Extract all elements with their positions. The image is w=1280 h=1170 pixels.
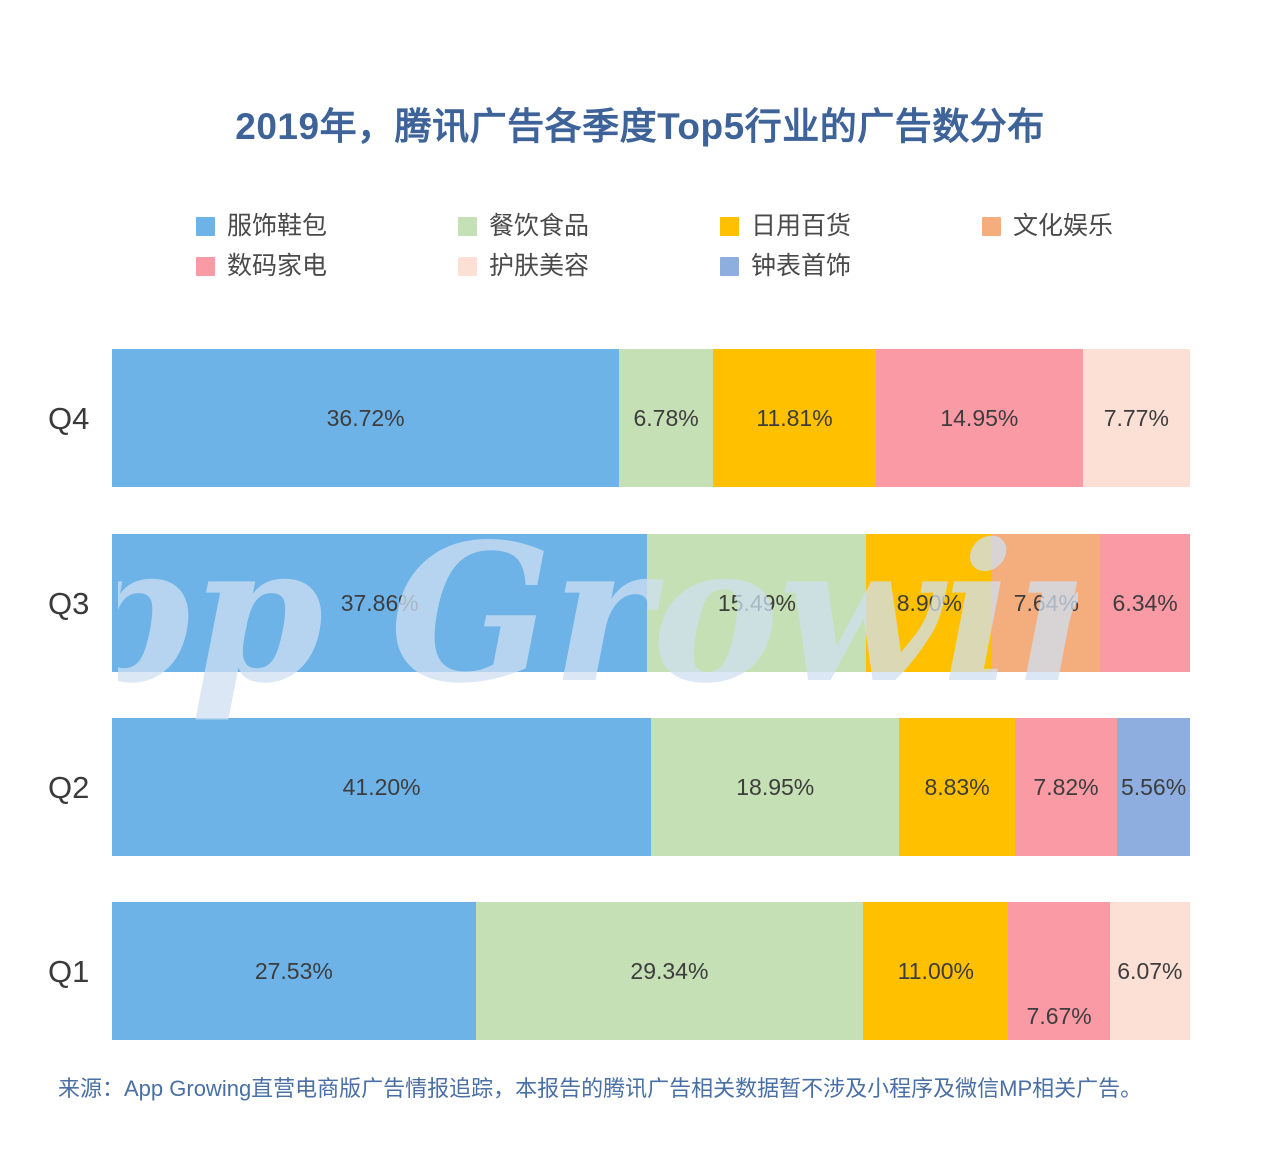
bar-segment-餐饮食品[interactable]: 18.95% (651, 718, 899, 856)
legend-item-文化娱乐[interactable]: 文化娱乐 (982, 214, 1244, 239)
legend-item-餐饮食品[interactable]: 餐饮食品 (458, 214, 720, 239)
legend-item-label: 文化娱乐 (1013, 214, 1113, 239)
source-note: 来源：App Growing直营电商版广告情报追踪，本报告的腾讯广告相关数据暂不… (58, 1070, 1228, 1109)
bar-segment-护肤美容[interactable]: 6.07% (1110, 902, 1190, 1040)
bar-segment-value: 5.56% (1121, 776, 1186, 799)
legend-item-护肤美容[interactable]: 护肤美容 (458, 254, 720, 279)
legend-swatch-icon (720, 257, 739, 276)
bar-segment-服饰鞋包[interactable]: 37.86% (112, 534, 647, 672)
category-label-Q4: Q4 (48, 403, 104, 434)
bar-segment-value: 15.49% (718, 592, 796, 615)
legend-item-label: 餐饮食品 (489, 214, 589, 239)
page-title: 2019年，腾讯广告各季度Top5行业的广告数分布 (0, 96, 1280, 150)
bar-track: 41.20%18.95%8.83%7.82%5.56% (112, 718, 1190, 856)
bar-segment-value: 11.00% (898, 960, 974, 983)
bar-track: 27.53%29.34%11.00%7.67%6.07% (112, 902, 1190, 1040)
bar-segment-value: 8.83% (924, 776, 989, 799)
bar-segment-日用百货[interactable]: 11.81% (713, 349, 876, 487)
bar-segment-服饰鞋包[interactable]: 41.20% (112, 718, 651, 856)
bar-segment-value: 8.90% (897, 592, 962, 615)
legend-item-日用百货[interactable]: 日用百货 (720, 214, 982, 239)
bar-segment-日用百货[interactable]: 11.00% (863, 902, 1008, 1040)
legend-swatch-icon (982, 217, 1001, 236)
chart-legend: 服饰鞋包餐饮食品日用百货文化娱乐数码家电护肤美容钟表首饰 (196, 206, 1126, 286)
bar-segment-value: 37.86% (341, 592, 419, 615)
bar-segment-value: 7.67% (1027, 1005, 1092, 1028)
bar-segment-餐饮食品[interactable]: 29.34% (476, 902, 864, 1040)
bar-segment-餐饮食品[interactable]: 15.49% (647, 534, 866, 672)
bar-segment-value: 7.77% (1104, 407, 1169, 430)
legend-item-服饰鞋包[interactable]: 服饰鞋包 (196, 214, 458, 239)
legend-item-label: 服饰鞋包 (227, 214, 327, 239)
bar-segment-value: 11.81% (756, 407, 832, 430)
bar-segment-护肤美容[interactable]: 7.77% (1083, 349, 1190, 487)
bar-segment-value: 6.78% (634, 407, 699, 430)
bar-row-Q3: Q337.86%15.49%8.90%7.64%6.34% (0, 530, 1280, 676)
legend-item-label: 日用百货 (751, 214, 851, 239)
bar-segment-value: 6.07% (1117, 960, 1182, 983)
bar-segment-value: 18.95% (736, 776, 814, 799)
bar-row-Q4: Q436.72%6.78%11.81%14.95%7.77% (0, 345, 1280, 491)
stacked-bar-chart: Q436.72%6.78%11.81%14.95%7.77%Q337.86%15… (0, 336, 1280, 1042)
legend-item-钟表首饰[interactable]: 钟表首饰 (720, 254, 982, 279)
legend-swatch-icon (196, 257, 215, 276)
bar-segment-数码家电[interactable]: 6.34% (1100, 534, 1190, 672)
legend-item-label: 钟表首饰 (751, 254, 851, 279)
bar-segment-value: 36.72% (327, 407, 405, 430)
bar-segment-value: 6.34% (1113, 592, 1178, 615)
legend-swatch-icon (720, 217, 739, 236)
bar-segment-文化娱乐[interactable]: 7.64% (992, 534, 1100, 672)
legend-swatch-icon (458, 217, 477, 236)
bar-segment-数码家电[interactable]: 7.67% (1008, 902, 1109, 1040)
bar-segment-餐饮食品[interactable]: 6.78% (619, 349, 713, 487)
bar-track: 37.86%15.49%8.90%7.64%6.34% (112, 534, 1190, 672)
bar-row-Q1: Q127.53%29.34%11.00%7.67%6.07% (0, 898, 1280, 1044)
bar-segment-value: 27.53% (255, 960, 333, 983)
bar-segment-服饰鞋包[interactable]: 27.53% (112, 902, 476, 1040)
legend-row: 数码家电护肤美容钟表首饰 (196, 246, 1126, 286)
bar-segment-value: 7.82% (1033, 776, 1098, 799)
bar-segment-钟表首饰[interactable]: 5.56% (1117, 718, 1190, 856)
bar-segment-服饰鞋包[interactable]: 36.72% (112, 349, 619, 487)
category-label-Q2: Q2 (48, 772, 104, 803)
category-label-Q3: Q3 (48, 588, 104, 619)
bar-row-Q2: Q241.20%18.95%8.83%7.82%5.56% (0, 714, 1280, 860)
bar-segment-数码家电[interactable]: 7.82% (1015, 718, 1117, 856)
category-label-Q1: Q1 (48, 956, 104, 987)
legend-swatch-icon (458, 257, 477, 276)
bar-segment-value: 41.20% (343, 776, 421, 799)
chart-page: 2019年，腾讯广告各季度Top5行业的广告数分布 服饰鞋包餐饮食品日用百货文化… (0, 0, 1280, 1170)
bar-segment-日用百货[interactable]: 8.90% (866, 534, 992, 672)
bar-segment-value: 14.95% (940, 407, 1018, 430)
bar-segment-日用百货[interactable]: 8.83% (899, 718, 1015, 856)
legend-item-数码家电[interactable]: 数码家电 (196, 254, 458, 279)
legend-item-label: 护肤美容 (489, 254, 589, 279)
legend-item-label: 数码家电 (227, 254, 327, 279)
bar-segment-value: 7.64% (1014, 592, 1079, 615)
bar-segment-数码家电[interactable]: 14.95% (876, 349, 1083, 487)
legend-swatch-icon (196, 217, 215, 236)
legend-row: 服饰鞋包餐饮食品日用百货文化娱乐 (196, 206, 1126, 246)
bar-segment-value: 29.34% (630, 960, 708, 983)
bar-track: 36.72%6.78%11.81%14.95%7.77% (112, 349, 1190, 487)
